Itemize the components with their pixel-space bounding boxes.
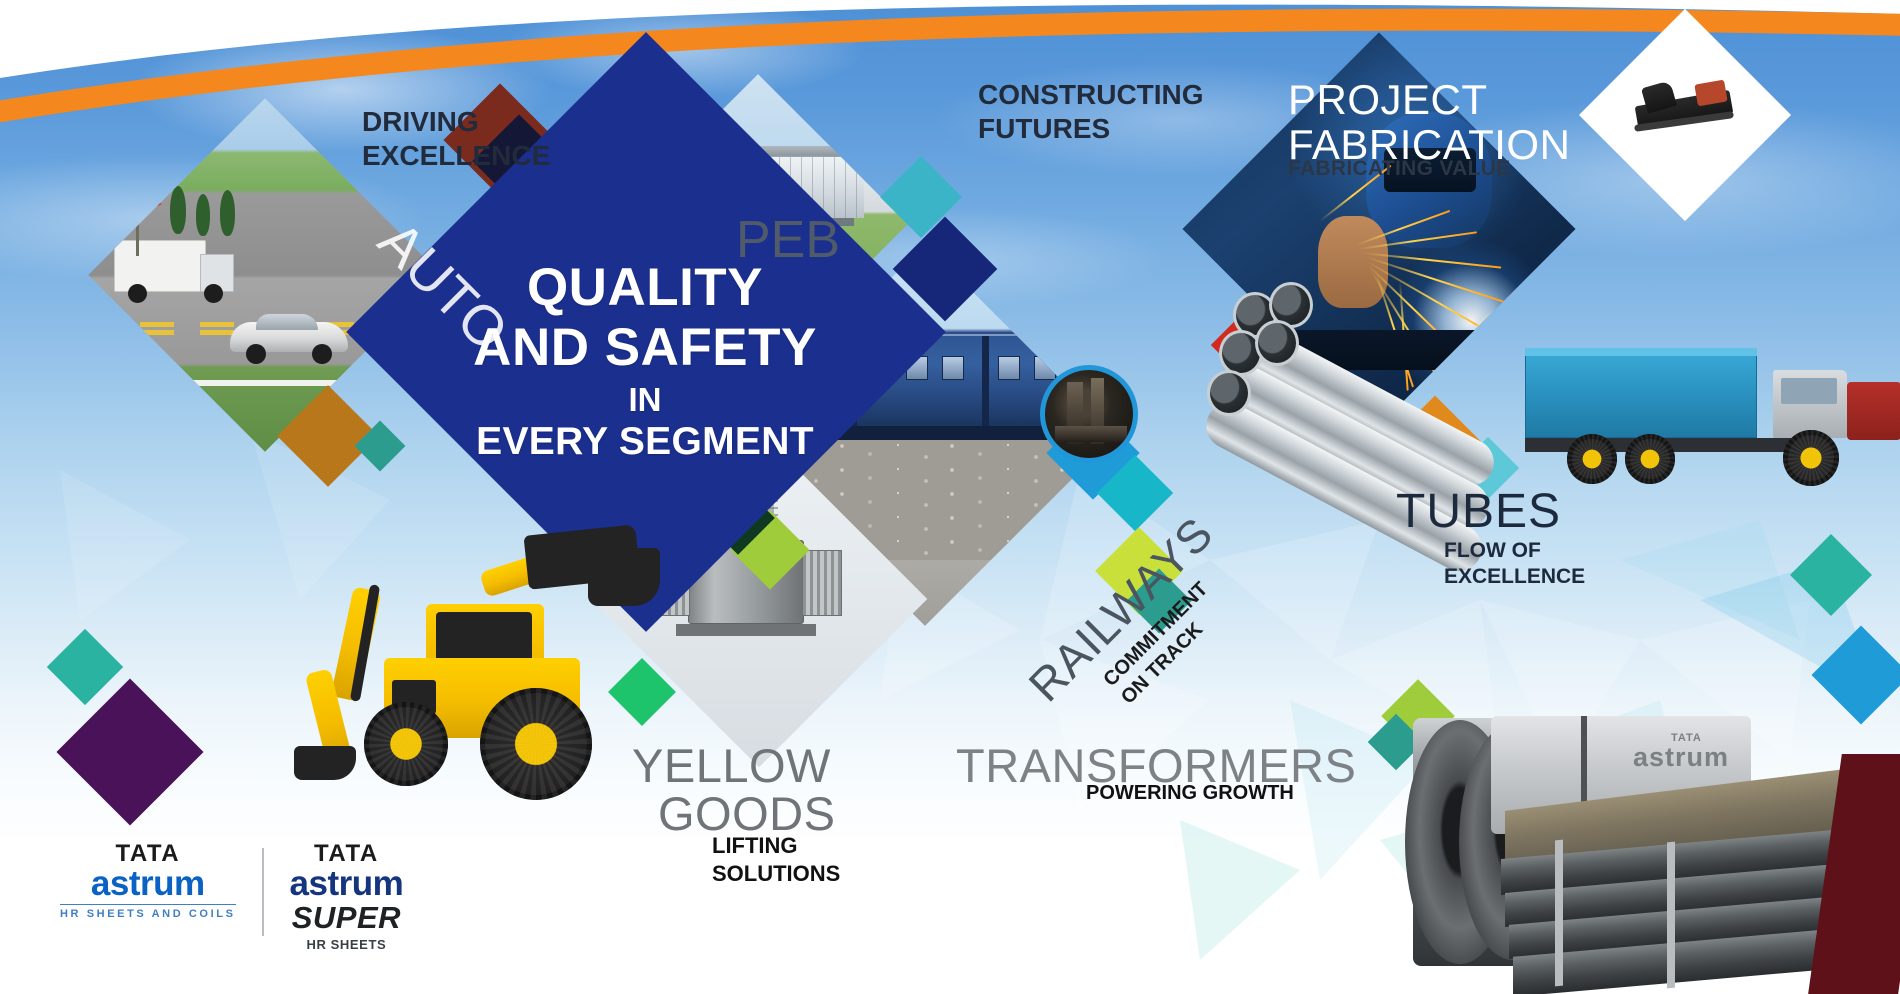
headline-line-4: EVERY SEGMENT bbox=[400, 420, 890, 464]
segment-watermark-project-fabrication: PROJECT FABRICATION bbox=[1288, 78, 1570, 167]
coil-astrum-mark: astrum bbox=[1633, 742, 1729, 773]
tata-wordmark-super: TATA bbox=[290, 842, 404, 866]
segment-watermark-tubes: TUBES bbox=[1396, 484, 1561, 539]
segment-watermark-yellow-goods: YELLOW GOODS bbox=[632, 742, 835, 838]
segment-title-auto-line2: EXCELLENCE bbox=[362, 139, 550, 173]
logo-tata-astrum-super: TATA astrum SUPER HR SHEETS bbox=[290, 842, 404, 952]
segment-watermark-peb: PEB bbox=[736, 210, 840, 270]
segment-title-transformers: POWERING GROWTH bbox=[1086, 782, 1294, 805]
trailer-vehicle bbox=[1525, 330, 1900, 510]
astrum-wordmark-super: astrum bbox=[290, 866, 404, 902]
yg-title-line2: SOLUTIONS bbox=[712, 860, 840, 888]
headline-line-3: IN bbox=[400, 381, 890, 419]
segment-title-auto: DRIVING EXCELLENCE bbox=[362, 105, 550, 173]
yg-title-line1: LIFTING bbox=[712, 832, 840, 860]
marketing-banner: PEB bbox=[0, 0, 1900, 994]
segment-title-peb-line1: CONSTRUCTING bbox=[978, 78, 1204, 112]
astrum-tagline: HR SHEETS AND COILS bbox=[60, 904, 236, 920]
yg-watermark-line1: YELLOW bbox=[632, 742, 835, 790]
steel-coils-and-sheets: TATA astrum bbox=[1395, 690, 1900, 994]
railways-circular-badge bbox=[1040, 365, 1138, 463]
segment-title-peb: CONSTRUCTING FUTURES bbox=[978, 78, 1204, 146]
segment-title-project-fabrication: FABRICATING VALUE bbox=[1288, 157, 1510, 181]
segment-title-tubes: FLOW OF EXCELLENCE bbox=[1444, 538, 1585, 591]
yg-watermark-line2: GOODS bbox=[658, 790, 835, 838]
tubes-title-line1: FLOW OF bbox=[1444, 538, 1585, 564]
astrum-wordmark: astrum bbox=[60, 866, 236, 902]
segment-title-auto-line1: DRIVING bbox=[362, 105, 550, 139]
logo-tata-astrum: TATA astrum HR SHEETS AND COILS bbox=[60, 842, 236, 920]
tubes-title-line2: EXCELLENCE bbox=[1444, 564, 1585, 590]
segment-title-peb-line2: FUTURES bbox=[978, 112, 1204, 146]
super-wordmark: SUPER bbox=[290, 902, 404, 934]
astrum-super-tagline: HR SHEETS bbox=[290, 937, 404, 952]
segment-title-yellow-goods: LIFTING SOLUTIONS bbox=[712, 832, 840, 888]
brand-logo-lockup: TATA astrum HR SHEETS AND COILS TATA ast… bbox=[60, 842, 403, 952]
pf-watermark-line1: PROJECT bbox=[1288, 78, 1570, 123]
logo-divider bbox=[262, 848, 264, 936]
tata-wordmark: TATA bbox=[60, 842, 236, 866]
